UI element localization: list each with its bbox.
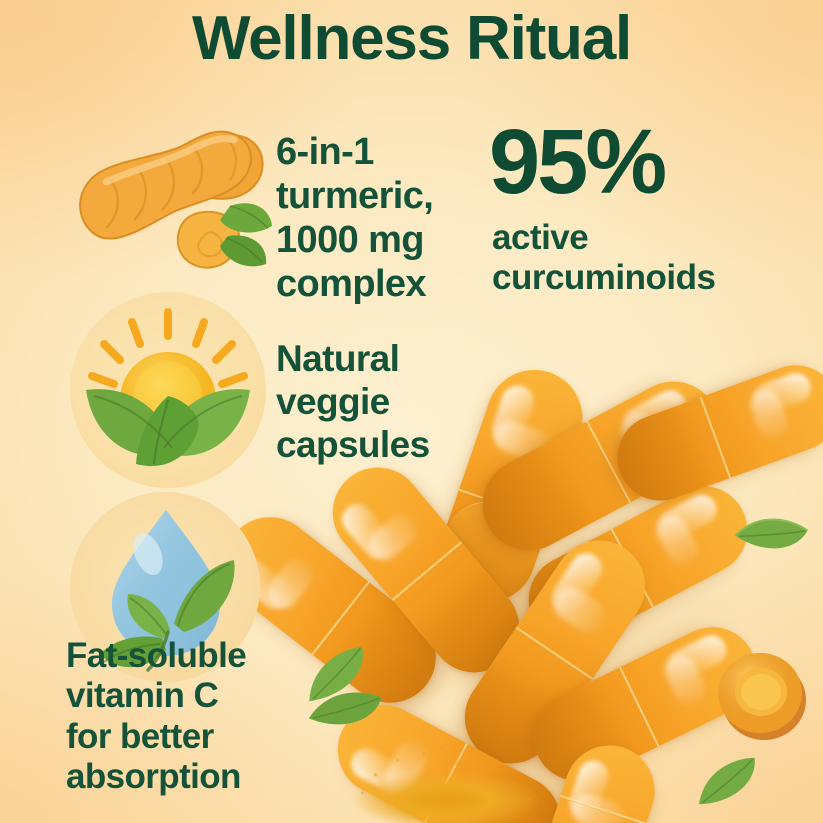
feature-line: veggie <box>276 381 476 424</box>
stat-value: 95% <box>489 118 664 206</box>
feature-line: turmeric, <box>276 174 481 218</box>
feature-line: vitamin C <box>66 676 281 716</box>
feature-line: Natural <box>276 338 476 381</box>
feature-line: 6-in-1 <box>276 130 481 174</box>
feature-text-fat-soluble: Fat-soluble vitamin C for better absorpt… <box>66 636 281 797</box>
feature-line: for better <box>66 717 281 757</box>
feature-text-turmeric: 6-in-1 turmeric, 1000 mg complex <box>276 130 481 306</box>
feature-line: absorption <box>66 757 281 797</box>
stat-label-line: curcuminoids <box>492 258 792 298</box>
feature-line: 1000 mg <box>276 218 481 262</box>
poster-canvas: Wellness Ritual 6-in-1 turmeric, 1000 mg… <box>0 0 823 823</box>
feature-line: Fat-soluble <box>66 636 281 676</box>
stat-label-line: active <box>492 218 792 258</box>
stat-label: active curcuminoids <box>492 218 792 298</box>
feature-text-veggie-capsules: Natural veggie capsules <box>276 338 476 467</box>
page-title: Wellness Ritual <box>0 8 823 70</box>
text-layer: Wellness Ritual 6-in-1 turmeric, 1000 mg… <box>0 0 823 823</box>
feature-line: complex <box>276 262 481 306</box>
feature-line: capsules <box>276 424 476 467</box>
